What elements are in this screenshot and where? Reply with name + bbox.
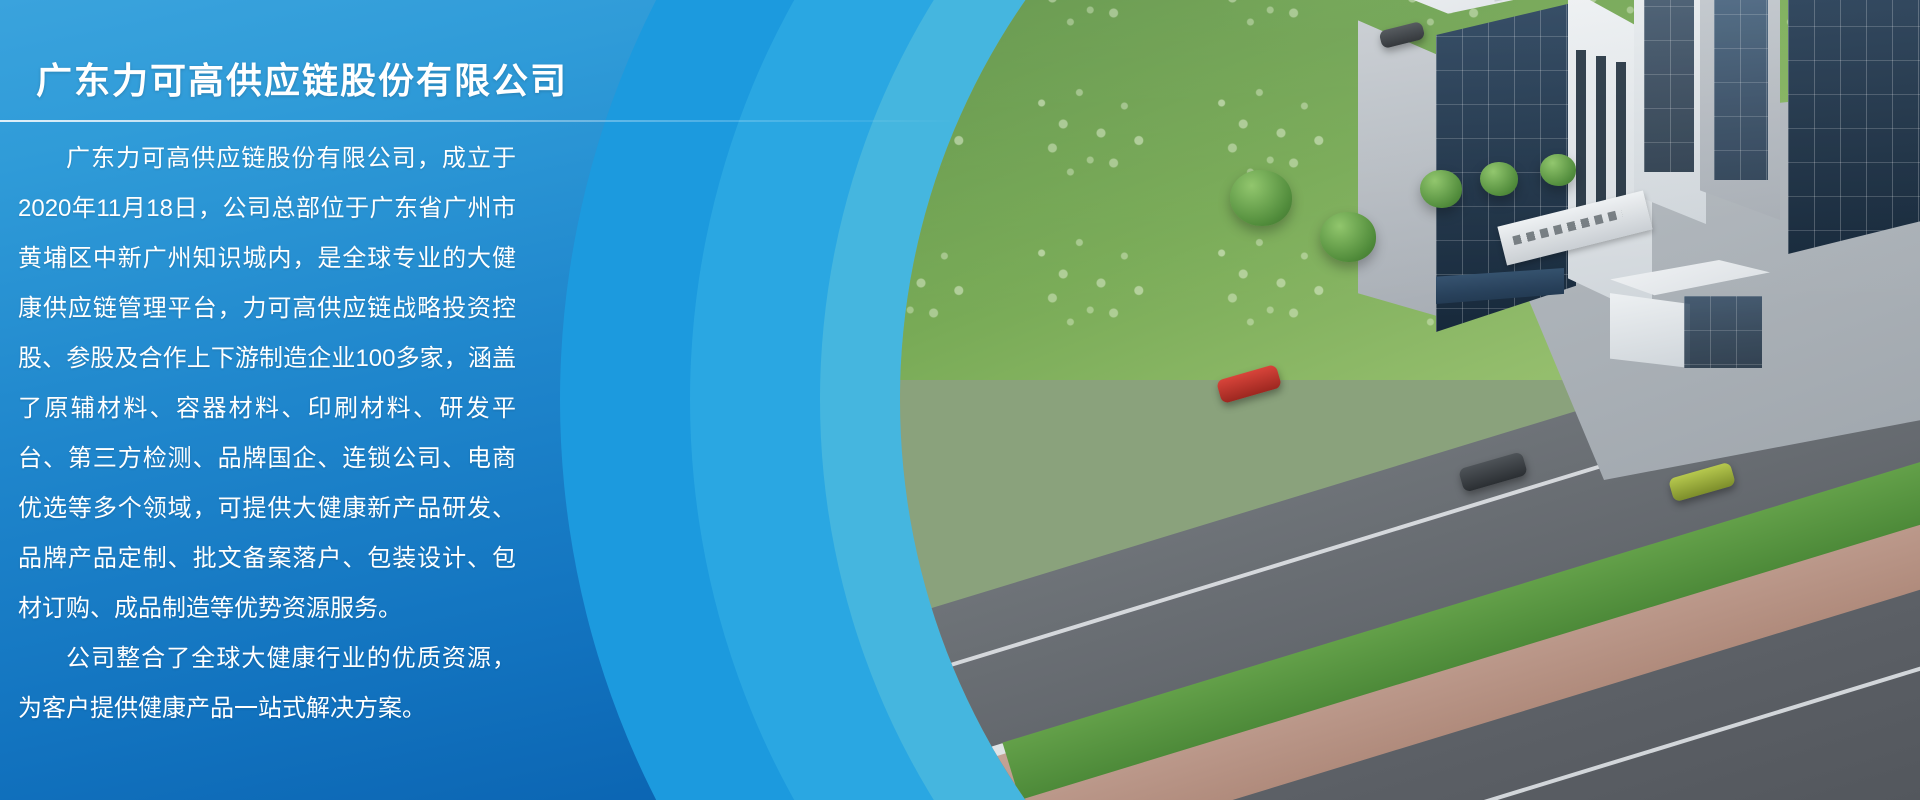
tree [1480, 162, 1518, 196]
title-divider [0, 120, 960, 122]
company-title: 广东力可高供应链股份有限公司 [36, 52, 568, 104]
tree [1540, 154, 1576, 186]
description-paragraph-2: 公司整合了全球大健康行业的优质资源，为客户提供健康产品一站式解决方案。 [18, 634, 516, 734]
text-panel: 广东力可高供应链股份有限公司 广东力可高供应链股份有限公司，成立于2020年11… [0, 0, 640, 800]
industrial-park-rendering [900, 0, 1920, 800]
company-description: 广东力可高供应链股份有限公司，成立于2020年11月18日，公司总部位于广东省广… [18, 134, 516, 734]
tree [1320, 212, 1376, 262]
tree [1230, 170, 1292, 226]
description-paragraph-1: 广东力可高供应链股份有限公司，成立于2020年11月18日，公司总部位于广东省广… [18, 134, 516, 634]
tree [1420, 170, 1462, 208]
building-outbuilding [1600, 260, 1780, 380]
building-c [1760, 0, 1920, 250]
company-banner: 广东力可高供应链股份有限公司 广东力可高供应链股份有限公司，成立于2020年11… [0, 0, 1920, 800]
